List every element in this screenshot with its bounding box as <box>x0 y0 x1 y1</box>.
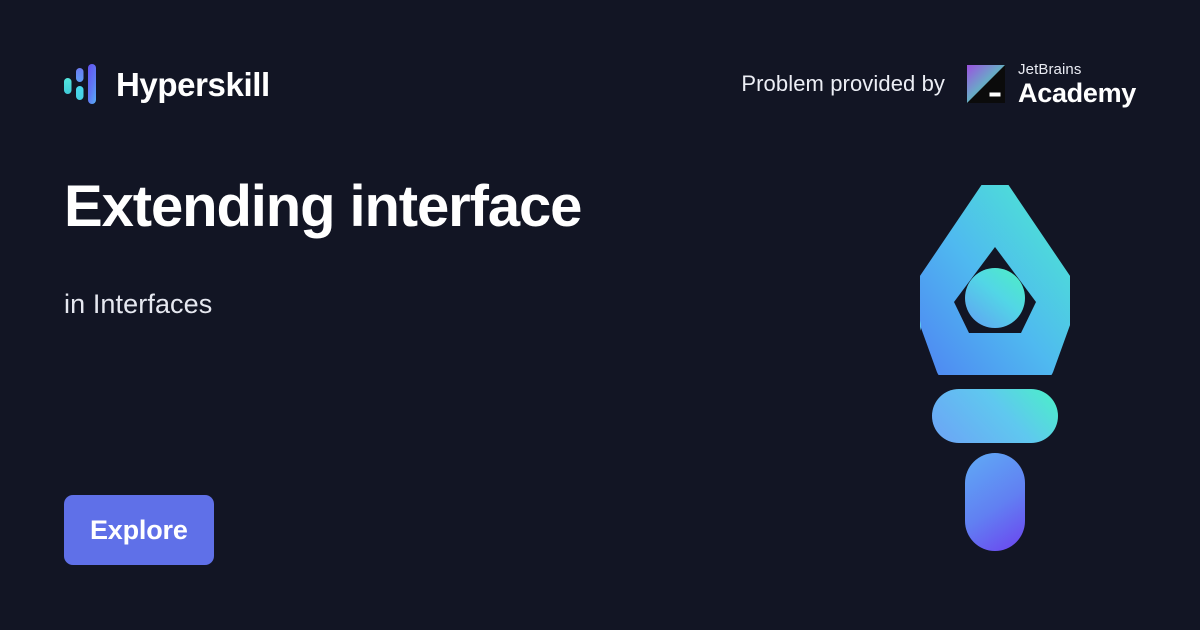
jetbrains-academy-wordmark: JetBrains Academy <box>1018 62 1136 107</box>
provider-label: Problem provided by <box>741 71 945 97</box>
hyperskill-emblem-icon <box>920 185 1070 555</box>
jetbrains-academy-logo[interactable]: JetBrains Academy <box>967 62 1136 107</box>
main-content: Extending interface in Interfaces <box>64 168 884 320</box>
header: Hyperskill Problem provided by <box>0 0 1200 168</box>
page-title: Extending interface <box>64 168 884 239</box>
emblem-center-circle <box>965 268 1025 328</box>
explore-button[interactable]: Explore <box>64 495 214 565</box>
jetbrains-square-icon <box>967 65 1005 103</box>
hyperskill-bars-icon <box>64 62 98 106</box>
horizontal-pill <box>932 389 1058 443</box>
hyperskill-brand-name: Hyperskill <box>116 68 270 101</box>
problem-card: Hyperskill Problem provided by <box>0 0 1200 630</box>
hyperskill-brand[interactable]: Hyperskill <box>64 62 270 106</box>
page-subtitle: in Interfaces <box>64 289 884 320</box>
provider-block: Problem provided by <box>741 62 1136 107</box>
vertical-pill <box>965 453 1025 551</box>
jetbrains-wordmark-top: JetBrains <box>1018 62 1081 77</box>
jetbrains-wordmark-bottom: Academy <box>1018 80 1136 107</box>
